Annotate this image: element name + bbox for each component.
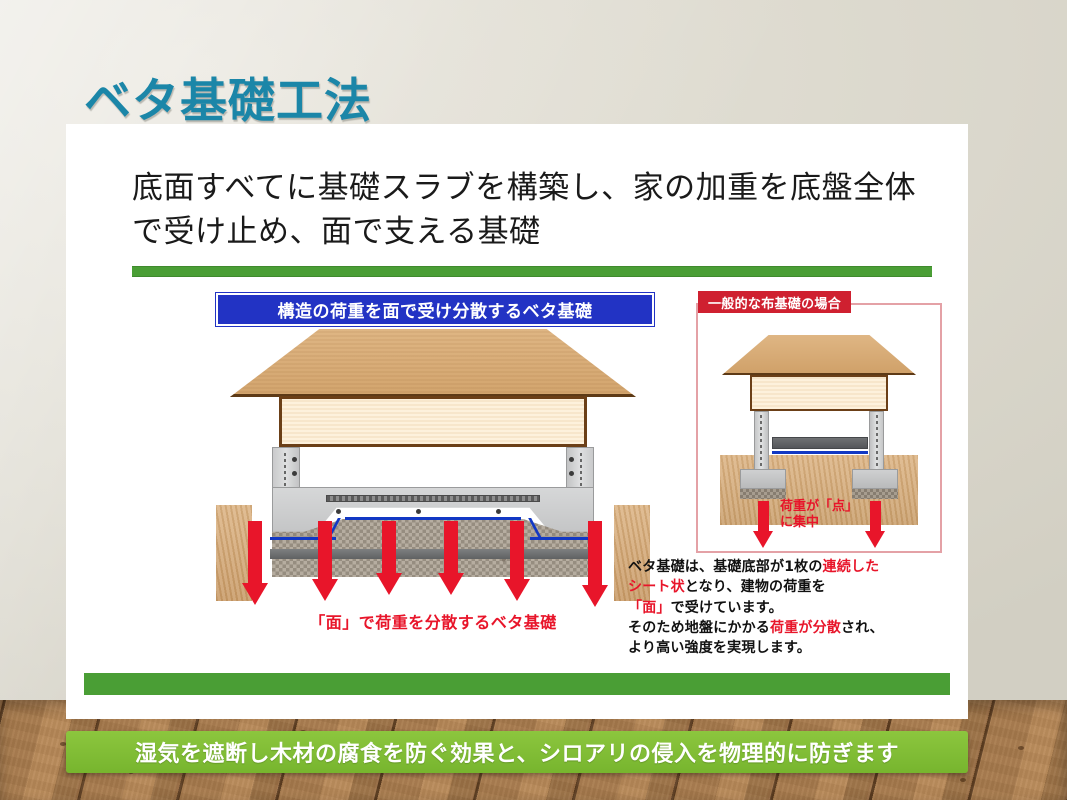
beta-foundation-banner: 構造の荷重を面で受け分散するベタ基礎: [216, 293, 654, 326]
slab-bolt: [496, 509, 501, 514]
strip-footing-gravel-left: [740, 489, 786, 499]
beta-foundation-diagram: 「面」で荷重を分散するベタ基礎: [216, 327, 650, 637]
explanation-seg: され、: [841, 620, 884, 636]
anchor-bolt: [569, 471, 574, 476]
wood-knot: [960, 778, 966, 782]
explanation-seg-highlight: 「面」: [628, 600, 671, 616]
explanation-text: ベタ基礎は、基礎底部が1枚の連続した シート状となり、建物の荷重を 「面」で受け…: [628, 557, 958, 658]
explanation-seg-highlight: 連続した: [823, 559, 880, 575]
explanation-line-5: より高い強度を実現します。: [628, 638, 958, 658]
explanation-seg: で受けています。: [671, 600, 783, 616]
beta-foundation-caption: 「面」で荷重を分散するベタ基礎: [216, 609, 650, 633]
strip-footing-right: [852, 469, 898, 489]
explanation-line-2: シート状となり、建物の荷重を: [628, 577, 958, 597]
slab-bolt: [416, 509, 421, 514]
strip-foundation-box: 荷重が「点」 に集中: [696, 303, 942, 553]
explanation-seg: ベタ基礎は、基礎底部が1枚の: [628, 559, 823, 575]
explanation-seg-highlight: 荷重が分散: [770, 620, 841, 636]
load-arrow: [376, 521, 402, 595]
strip-rebar-left: [760, 415, 762, 469]
figure-area: 構造の荷重を面で受け分散するベタ基礎: [66, 289, 968, 679]
content-card: 底面すべてに基礎スラブを構築し、家の加重を底盤全体で受け止め、面で支える基礎 構…: [66, 124, 968, 719]
load-arrow: [242, 521, 268, 605]
page-title: ベタ基礎工法: [84, 62, 372, 131]
wood-knot: [1018, 746, 1024, 750]
strip-foundation-label-text: 一般的な布基礎の場合: [708, 293, 841, 312]
strip-waterproof-sheet: [772, 451, 868, 454]
anchor-bolt: [569, 457, 574, 462]
beta-foundation-banner-label: 構造の荷重を面で受け分散するベタ基礎: [278, 297, 593, 322]
lede-paragraph: 底面すべてに基礎スラブを構築し、家の加重を底盤全体で受け止め、面で支える基礎: [132, 166, 932, 254]
strip-house-body: [750, 375, 888, 411]
strip-footing-gravel-right: [852, 489, 898, 499]
strip-load-arrow: [753, 501, 773, 548]
slab-reinforcement-plate: [326, 495, 540, 502]
anchor-bolt: [292, 471, 297, 476]
house-roof-shading: [230, 329, 636, 397]
explanation-line-1: ベタ基礎は、基礎底部が1枚の連続した: [628, 557, 958, 577]
strip-load-arrow: [865, 501, 885, 548]
strip-caption-line-1: 荷重が「点」: [780, 499, 858, 515]
green-divider-bottom: [84, 673, 950, 695]
load-arrow: [504, 521, 530, 601]
house-body: [279, 396, 587, 447]
strip-caption-line-2: に集中: [780, 515, 858, 531]
strip-foundation-caption: 荷重が「点」 に集中: [780, 499, 858, 532]
green-divider-top: [132, 266, 932, 277]
strip-house-roof: [722, 335, 916, 375]
explanation-seg: となり、建物の荷重を: [685, 579, 826, 595]
explanation-line-4: そのため地盤にかかる荷重が分散され、: [628, 618, 958, 638]
slab-bolt: [336, 509, 341, 514]
strip-foundation-label: 一般的な布基礎の場合: [698, 291, 851, 313]
explanation-seg: そのため地盤にかかる: [628, 620, 770, 636]
load-arrow: [312, 521, 338, 601]
explanation-seg-highlight: シート状: [628, 579, 685, 595]
explanation-line-3: 「面」で受けています。: [628, 598, 958, 618]
anchor-bolt: [292, 457, 297, 462]
load-arrow: [582, 521, 608, 607]
strip-foundation-diagram: 荷重が「点」 に集中: [698, 331, 940, 553]
strip-rebar-right: [876, 415, 878, 469]
bottom-ribbon-text: 湿気を遮断し木材の腐食を防ぐ効果と、シロアリの侵入を物理的に防ぎます: [135, 736, 899, 768]
bottom-ribbon: 湿気を遮断し木材の腐食を防ぐ効果と、シロアリの侵入を物理的に防ぎます: [66, 731, 968, 773]
strip-footing-left: [740, 469, 786, 489]
load-arrow: [438, 521, 464, 595]
strip-floor-plate: [772, 437, 868, 449]
